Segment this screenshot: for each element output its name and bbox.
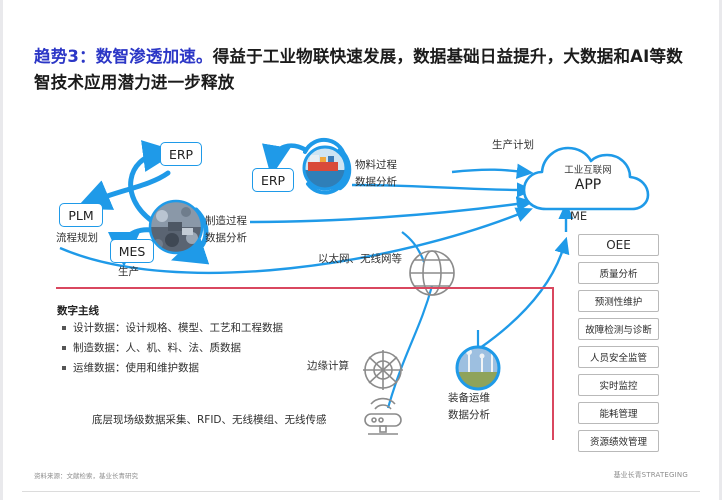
kpi-item-6[interactable]: 能耗管理 xyxy=(578,402,659,424)
digital-thread-item-0: 设计数据：设计规格、模型、工艺和工程数据 xyxy=(73,320,283,336)
chip-mes[interactable]: MES xyxy=(110,239,154,263)
digital-thread-item-2: 运维数据：使用和维护数据 xyxy=(73,360,199,376)
chip-erp-left[interactable]: ERP xyxy=(160,142,202,166)
bullet-icon xyxy=(62,366,66,370)
field-data-collection-label: 底层现场级数据采集、RFID、无线模组、无线传感 xyxy=(92,412,327,427)
bullet-icon xyxy=(62,346,66,350)
caption-material: 物料过程 数据分析 xyxy=(355,157,397,191)
footer-brand-cn: 基业长青 xyxy=(614,471,642,479)
list-item: 运维数据：使用和维护数据 xyxy=(62,360,332,376)
footer-source: 资料来源：文献检索，基业长青研究 xyxy=(34,470,138,480)
caption-manufacture-l1: 制造过程 xyxy=(205,213,247,230)
digital-thread-item-1: 制造数据：人、机、料、法、质数据 xyxy=(73,340,241,356)
footer-brand: 基业长青STRATEGING xyxy=(614,470,688,480)
kpi-item-7[interactable]: 资源绩效管理 xyxy=(578,430,659,452)
kpi-item-1[interactable]: 质量分析 xyxy=(578,262,659,284)
caption-equipment-l1: 装备运维 xyxy=(448,390,490,407)
caption-material-l2: 数据分析 xyxy=(355,174,397,191)
caption-network: 以太网、无线网等 xyxy=(318,251,402,266)
footer-divider xyxy=(22,491,700,492)
antenna-icon xyxy=(363,350,403,390)
cloud-label-line2: APP xyxy=(528,178,648,193)
caption-me: ME xyxy=(570,209,587,223)
caption-equipment-l2: 数据分析 xyxy=(448,407,490,424)
chip-erp-mid[interactable]: ERP xyxy=(252,168,294,192)
caption-mes: 生产 xyxy=(118,264,139,279)
caption-equipment: 装备运维 数据分析 xyxy=(448,390,490,424)
list-item: 制造数据：人、机、料、法、质数据 xyxy=(62,340,332,356)
kpi-item-2[interactable]: 预测性维护 xyxy=(578,290,659,312)
kpi-item-3[interactable]: 故障检测与诊断 xyxy=(578,318,659,340)
divider-red-vertical xyxy=(552,287,554,440)
digital-thread-list: 设计数据：设计规格、模型、工艺和工程数据 制造数据：人、机、料、法、质数据 运维… xyxy=(62,320,332,380)
caption-material-l1: 物料过程 xyxy=(355,157,397,174)
caption-manufacture: 制造过程 数据分析 xyxy=(205,213,247,247)
kpi-item-0[interactable]: OEE xyxy=(578,234,659,256)
router-icon xyxy=(365,399,401,434)
footer-brand-en: STRATEGING xyxy=(642,471,688,479)
caption-plm: 流程规划 xyxy=(56,230,98,245)
divider-red-horizontal xyxy=(56,287,554,289)
kpi-item-5[interactable]: 实时监控 xyxy=(578,374,659,396)
chip-plm[interactable]: PLM xyxy=(59,203,103,227)
caption-manufacture-l2: 数据分析 xyxy=(205,230,247,247)
cloud-label: 工业互联网 APP xyxy=(528,163,648,193)
slide-root: 趋势3：数智渗透加速。得益于工业物联快速发展，数据基础日益提升，大数据和AI等数… xyxy=(0,0,722,500)
cloud-label-line1: 工业互联网 xyxy=(528,163,648,178)
bullet-icon xyxy=(62,326,66,330)
digital-thread-title: 数字主线 xyxy=(57,303,99,318)
caption-production-plan: 生产计划 xyxy=(492,137,534,152)
kpi-item-4[interactable]: 人员安全监管 xyxy=(578,346,659,368)
list-item: 设计数据：设计规格、模型、工艺和工程数据 xyxy=(62,320,332,336)
